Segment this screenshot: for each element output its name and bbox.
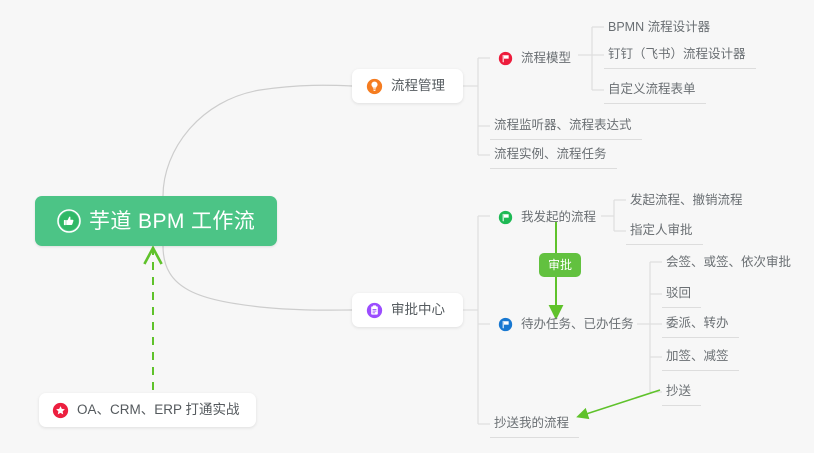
note-card-integration[interactable]: OA、CRM、ERP 打通实战 — [39, 393, 256, 427]
node-label: 驳回 — [666, 287, 691, 300]
node-label: 抄送 — [666, 385, 691, 398]
node-label: 我发起的流程 — [521, 211, 596, 224]
node-label: 流程模型 — [521, 52, 571, 65]
node-label: 会签、或签、依次审批 — [666, 256, 791, 269]
branch-node-approval-center[interactable]: 审批中心 — [352, 293, 463, 327]
node-process-instance-task[interactable]: 流程实例、流程任务 — [490, 141, 617, 169]
flag-icon — [498, 317, 513, 332]
node-reject[interactable]: 驳回 — [662, 280, 701, 308]
node-bpmn-designer[interactable]: BPMN 流程设计器 — [604, 13, 720, 41]
root-node[interactable]: 芋道 BPM 工作流 — [35, 196, 277, 246]
node-label: BPMN 流程设计器 — [608, 21, 710, 34]
star-badge-icon — [52, 402, 69, 419]
approval-tag[interactable]: 审批 — [539, 253, 581, 277]
node-label: 待办任务、已办任务 — [521, 318, 634, 331]
node-label: 抄送我的流程 — [494, 417, 569, 430]
flag-icon — [498, 51, 513, 66]
node-label: 指定人审批 — [630, 224, 693, 237]
node-label: 发起流程、撤销流程 — [630, 194, 743, 207]
node-label: 流程监听器、流程表达式 — [494, 119, 632, 132]
node-countersign[interactable]: 会签、或签、依次审批 — [662, 248, 801, 276]
node-label: 自定义流程表单 — [608, 83, 696, 96]
node-cc-to-me-process[interactable]: 抄送我的流程 — [490, 410, 579, 438]
lightbulb-icon — [366, 78, 383, 95]
root-label: 芋道 BPM 工作流 — [89, 211, 255, 232]
node-label: 流程实例、流程任务 — [494, 148, 607, 161]
node-label: 委派、转办 — [666, 317, 729, 330]
clipboard-icon — [366, 302, 383, 319]
node-dingtalk-designer[interactable]: 钉钉（飞书）流程设计器 — [604, 41, 756, 69]
branch-label: 审批中心 — [391, 303, 445, 317]
node-assignee-approval[interactable]: 指定人审批 — [626, 217, 703, 245]
branch-label: 流程管理 — [391, 79, 445, 93]
flag-icon — [498, 210, 513, 225]
node-todo-done-tasks[interactable]: 待办任务、已办任务 — [490, 310, 644, 338]
thumbs-up-icon — [57, 209, 81, 233]
node-custom-form[interactable]: 自定义流程表单 — [604, 76, 706, 104]
node-process-listener-expression[interactable]: 流程监听器、流程表达式 — [490, 112, 642, 140]
node-my-initiated-process[interactable]: 我发起的流程 — [490, 203, 606, 231]
branch-node-process-management[interactable]: 流程管理 — [352, 69, 463, 103]
node-label: 钉钉（飞书）流程设计器 — [608, 48, 746, 61]
node-start-cancel-process[interactable]: 发起流程、撤销流程 — [626, 186, 753, 214]
note-label: OA、CRM、ERP 打通实战 — [77, 403, 240, 417]
node-process-model[interactable]: 流程模型 — [490, 44, 581, 72]
node-add-remove-sign[interactable]: 加签、减签 — [662, 343, 739, 371]
approval-tag-label: 审批 — [548, 258, 572, 272]
node-delegate-transfer[interactable]: 委派、转办 — [662, 310, 739, 338]
mindmap-canvas: 芋道 BPM 工作流 流程管理 流程模型 BPMN 流程设计器 钉钉（飞书 — [0, 0, 814, 453]
node-label: 加签、减签 — [666, 350, 729, 363]
node-cc[interactable]: 抄送 — [662, 378, 701, 406]
